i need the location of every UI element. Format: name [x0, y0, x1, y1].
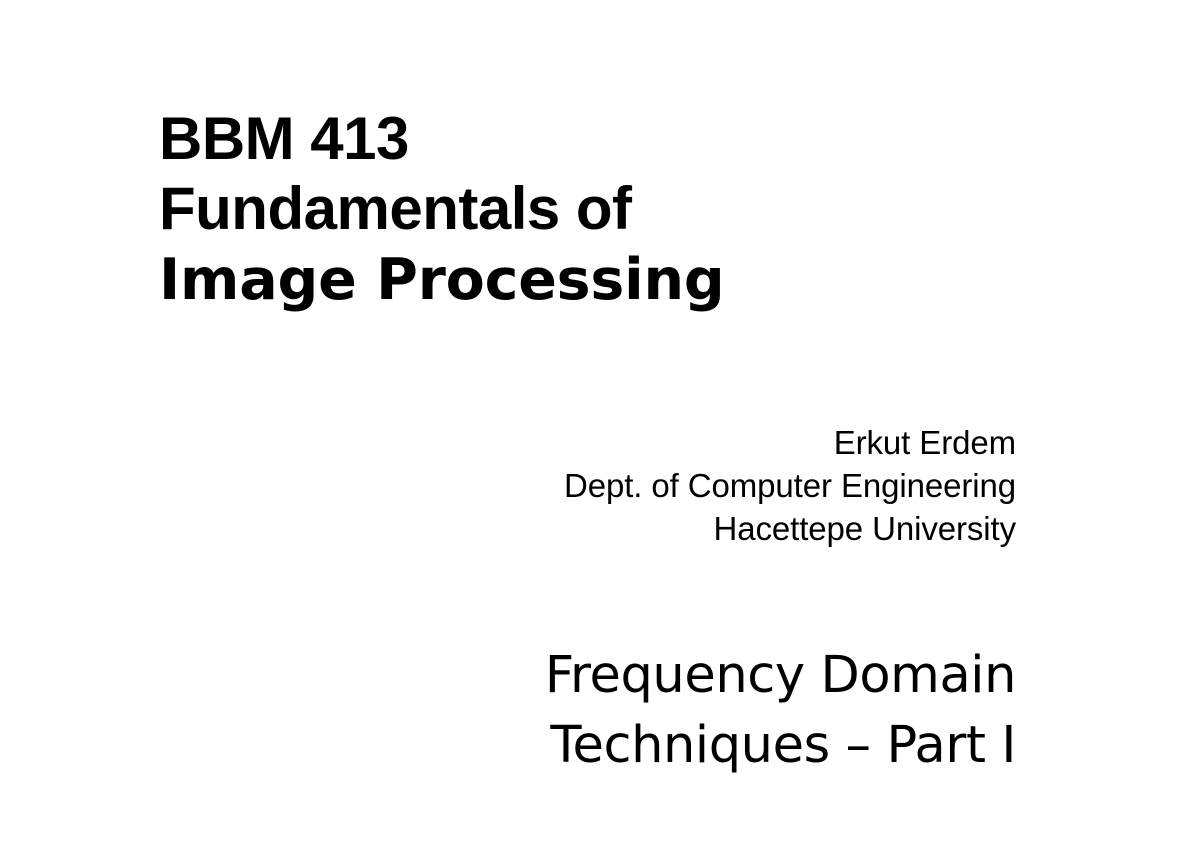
author-block: Erkut Erdem Dept. of Computer Engineerin…	[256, 421, 1016, 550]
course-title-block: BBM 413 Fundamentals of Image Processing	[159, 104, 1059, 316]
lecture-subtitle-line-1: Frequency Domain	[196, 641, 1016, 711]
author-name: Erkut Erdem	[256, 421, 1016, 464]
author-institution: Hacettepe University	[256, 507, 1016, 550]
lecture-subtitle-block: Frequency Domain Techniques – Part I	[196, 641, 1016, 781]
title-slide: BBM 413 Fundamentals of Image Processing…	[0, 0, 1200, 848]
course-title-line-3: Image Processing	[159, 244, 1059, 316]
lecture-subtitle-line-2: Techniques – Part I	[196, 711, 1016, 781]
course-title-line-2: Fundamentals of	[159, 174, 1059, 244]
author-department: Dept. of Computer Engineering	[256, 464, 1016, 507]
course-title-line-1: BBM 413	[159, 104, 1059, 174]
